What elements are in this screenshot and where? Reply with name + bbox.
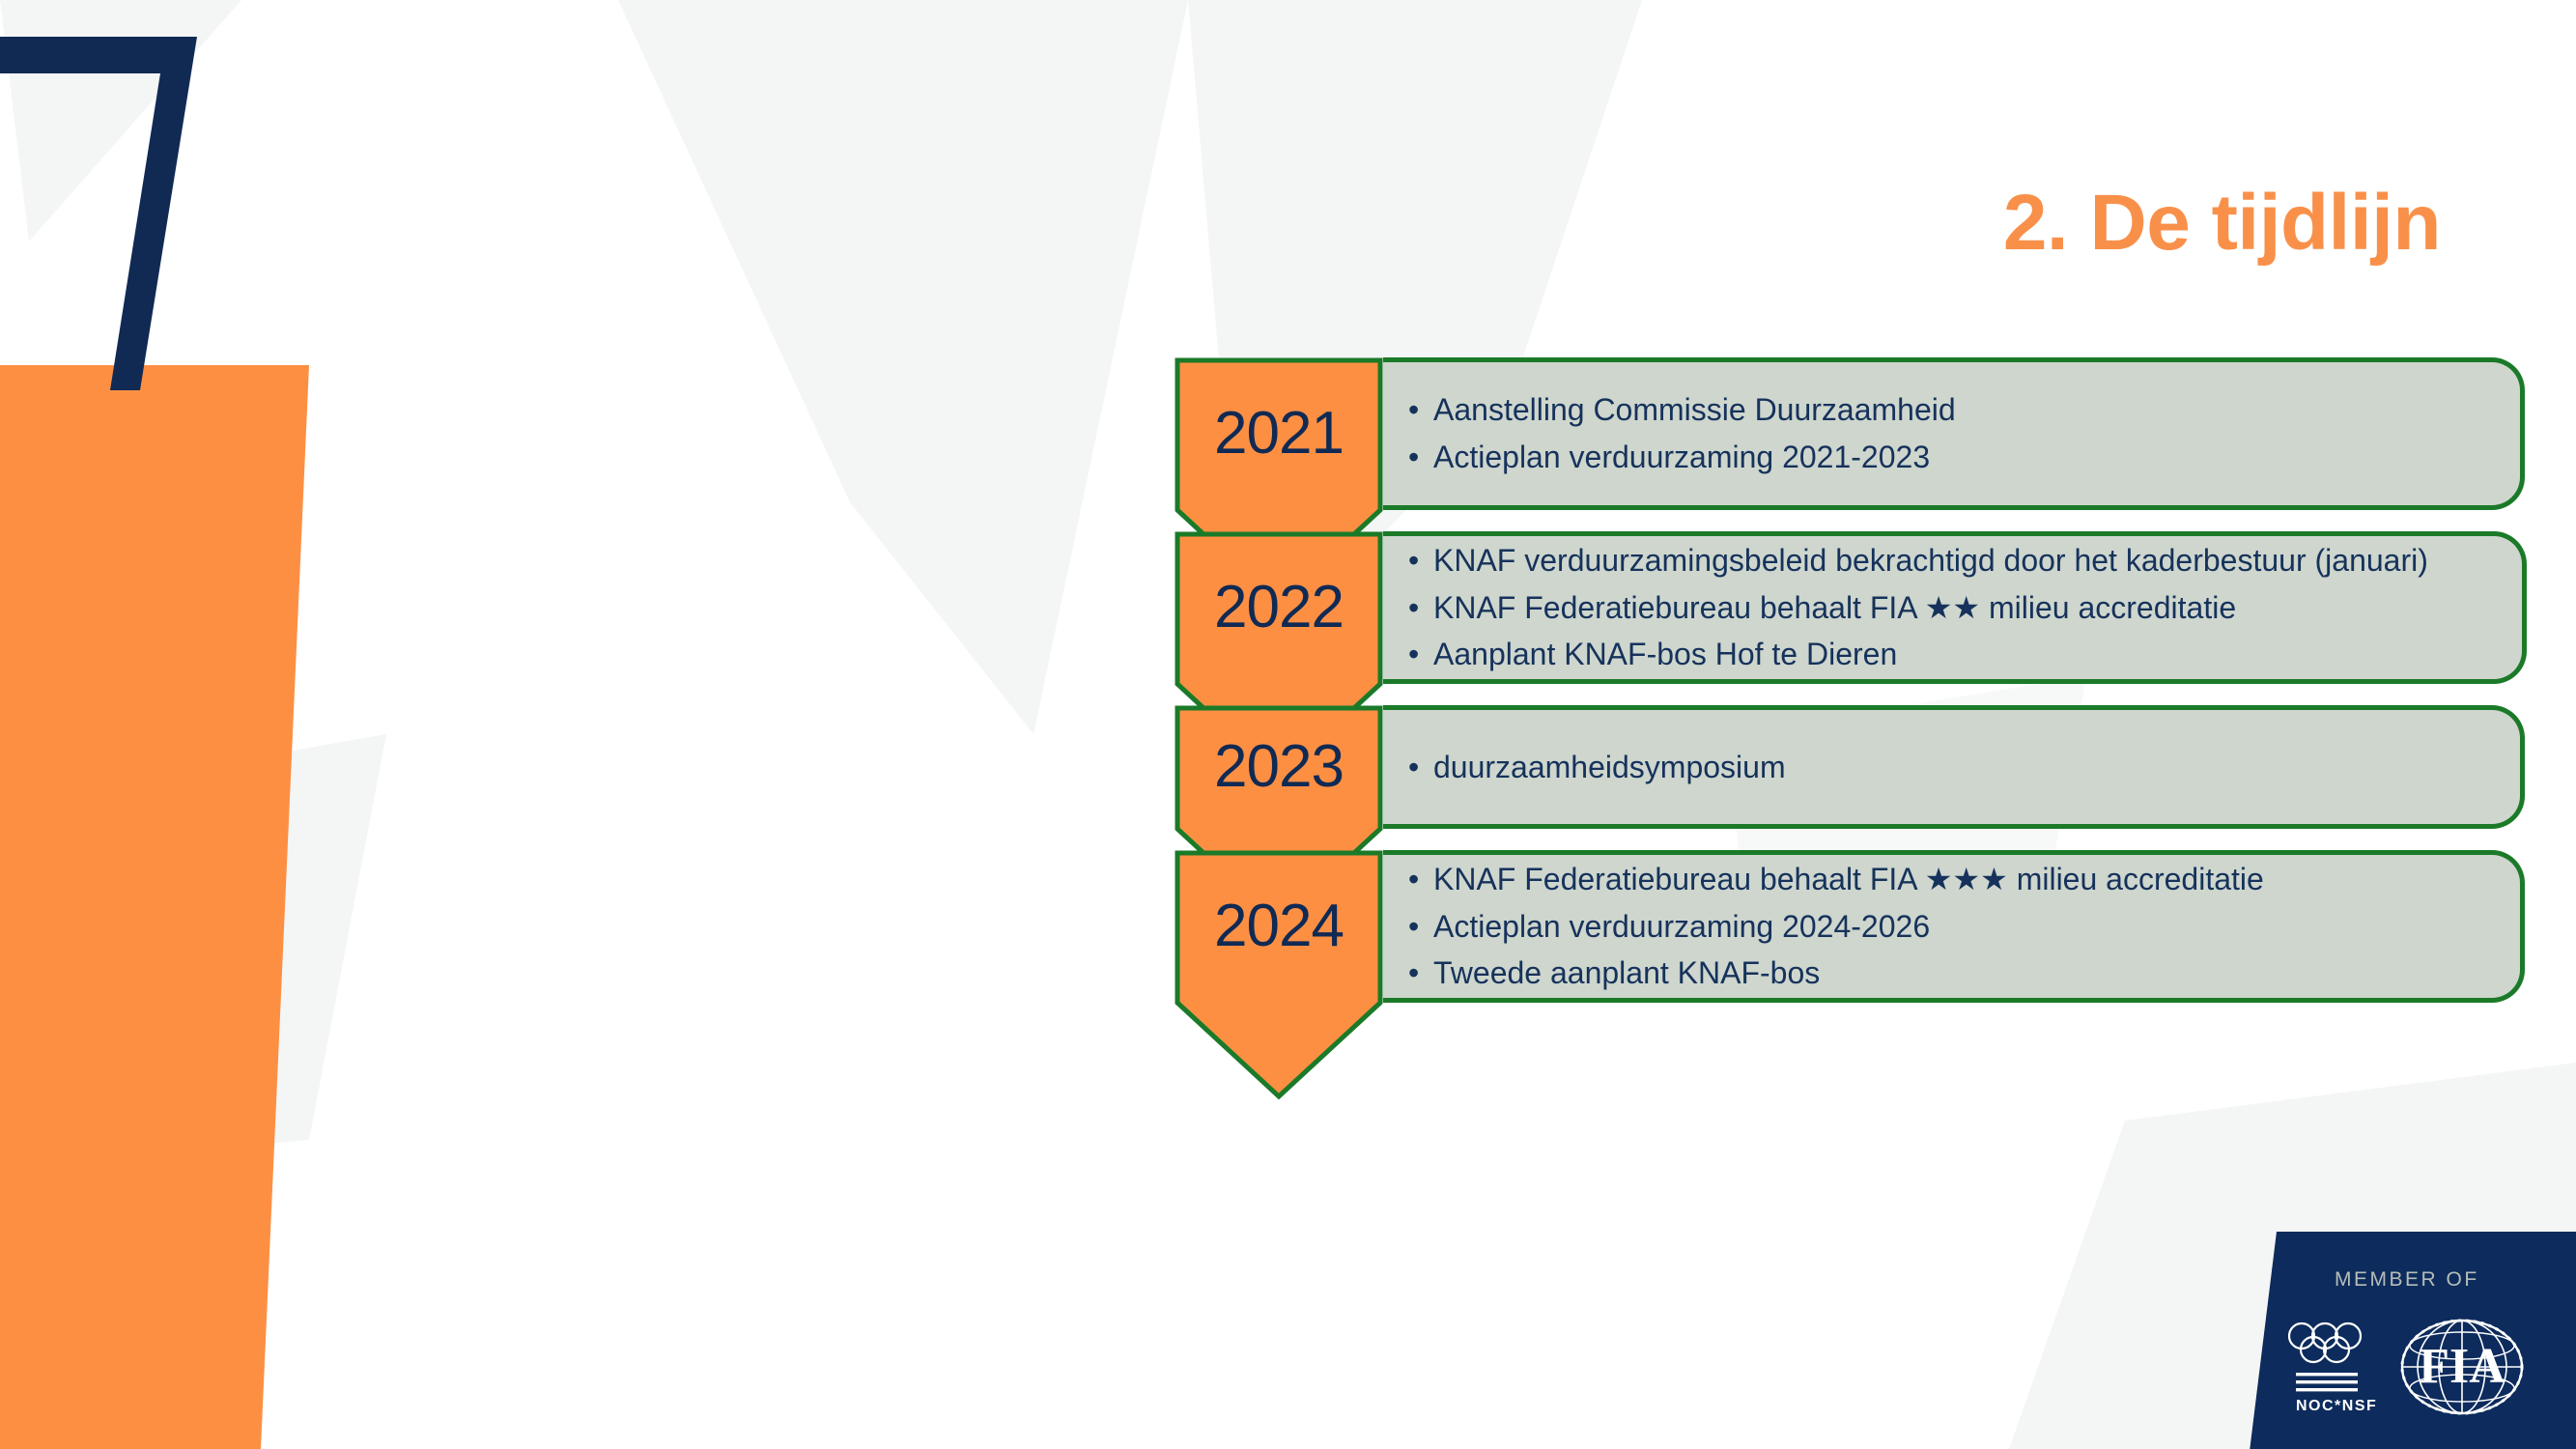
timeline-year-label: 2024 (1186, 850, 1372, 1003)
noc-nsf-logo (2289, 1323, 2361, 1362)
fia-logo: FIA (2402, 1321, 2522, 1413)
timeline-content: KNAF Federatiebureau behaalt FIA ★★★ mil… (1383, 850, 2525, 1003)
timeline-row: 2023 duurzaamheidsymposium (1175, 705, 2527, 829)
timeline-row: 2022 KNAF verduurzamingsbeleid bekrachti… (1175, 531, 2527, 684)
timeline: 2021 Aanstelling Commissie Duurzaamheid … (1175, 357, 2527, 1003)
timeline-content: Aanstelling Commissie Duurzaamheid Actie… (1383, 357, 2525, 510)
timeline-year-label: 2023 (1186, 705, 1372, 829)
list-item: Tweede aanplant KNAF-bos (1404, 950, 2495, 997)
member-of-panel: MEMBER OF NOC*NSF (2246, 1232, 2576, 1449)
timeline-row: 2024 KNAF Federatiebureau behaalt FIA ★★… (1175, 850, 2527, 1003)
timeline-year-marker: 2024 (1175, 850, 1383, 1003)
orange-accent-shape (0, 365, 309, 1449)
list-item: KNAF Federatiebureau behaalt FIA ★★ mili… (1404, 584, 2497, 632)
timeline-row: 2021 Aanstelling Commissie Duurzaamheid … (1175, 357, 2527, 510)
page-title: 2. De tijdlijn (2003, 184, 2441, 263)
timeline-year-marker: 2021 (1175, 357, 1383, 510)
list-item: duurzaamheidsymposium (1404, 744, 2495, 791)
timeline-content: KNAF verduurzamingsbeleid bekrachtigd do… (1383, 531, 2527, 684)
list-item: KNAF Federatiebureau behaalt FIA ★★★ mil… (1404, 856, 2495, 903)
fia-wordmark: FIA (2419, 1339, 2505, 1394)
timeline-year-marker: 2022 (1175, 531, 1383, 684)
timeline-year-marker: 2023 (1175, 705, 1383, 829)
timeline-year-label: 2022 (1186, 531, 1372, 684)
navy-seven-shape (0, 37, 197, 390)
timeline-content: duurzaamheidsymposium (1383, 705, 2525, 829)
noc-nsf-wordmark: NOC*NSF (2296, 1398, 2377, 1414)
slide-canvas: 2. De tijdlijn 2021 Aanstelling Commissi… (0, 0, 2576, 1449)
list-item: Aanstelling Commissie Duurzaamheid (1404, 386, 2495, 434)
navy-slanted-panel (2246, 1232, 2576, 1449)
list-item: Actieplan verduurzaming 2024-2026 (1404, 903, 2495, 951)
list-item: Actieplan verduurzaming 2021-2023 (1404, 434, 2495, 481)
noc-nsf-bars (2296, 1373, 2358, 1391)
list-item: Aanplant KNAF-bos Hof te Dieren (1404, 631, 2497, 678)
timeline-year-label: 2021 (1186, 357, 1372, 510)
member-of-label: MEMBER OF (2335, 1268, 2479, 1291)
list-item: KNAF verduurzamingsbeleid bekrachtigd do… (1404, 537, 2497, 584)
